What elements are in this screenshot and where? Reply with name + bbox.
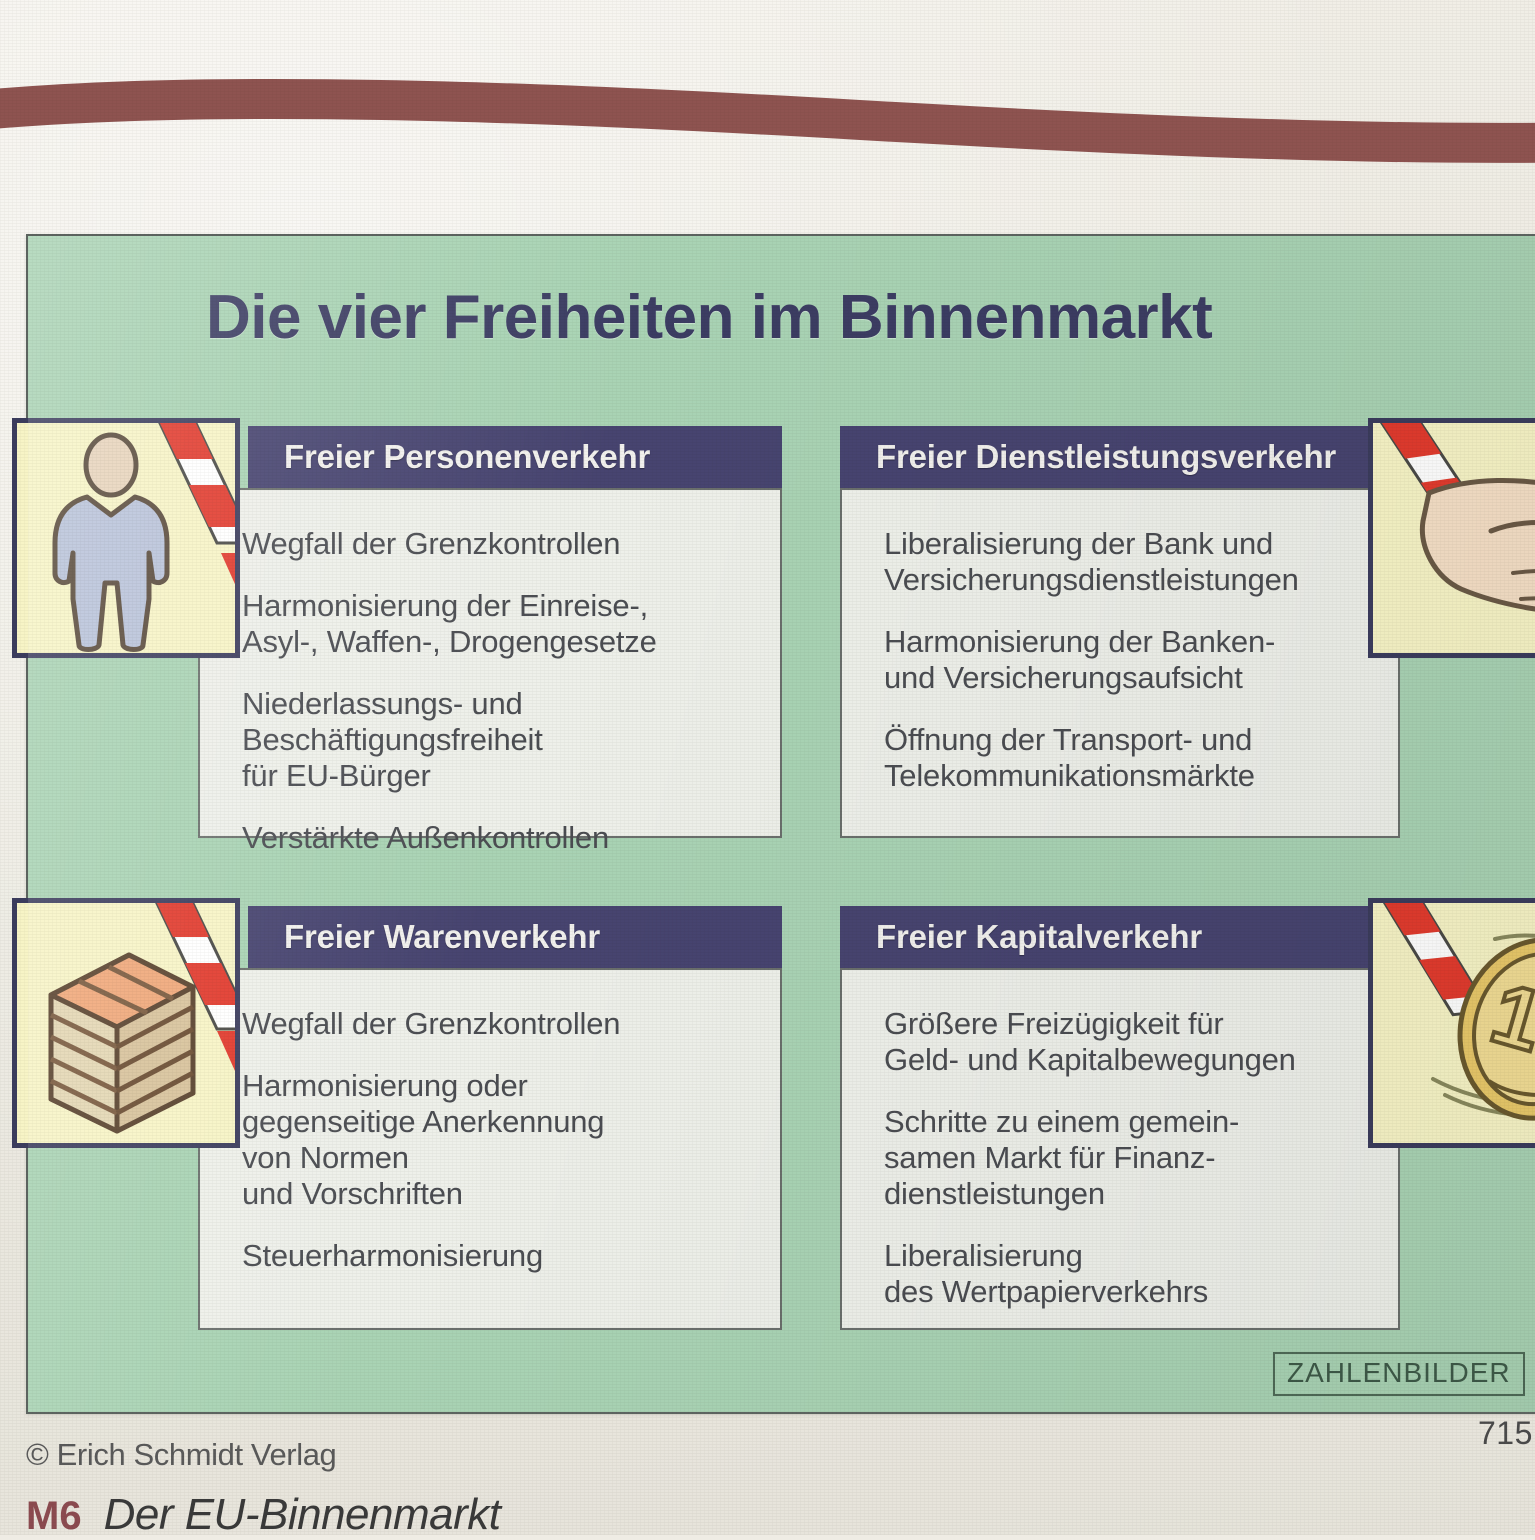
zahlenbilder-number: 715 bbox=[1478, 1415, 1533, 1452]
list-item: Verstärkte Außenkontrollen bbox=[242, 820, 750, 856]
card-body-warenverkehr: Wegfall der Grenzkontrollen Harmonisieru… bbox=[198, 968, 782, 1330]
card-title-kapitalverkehr: Freier Kapitalverkehr bbox=[840, 906, 1374, 968]
material-code: M6 bbox=[26, 1494, 82, 1539]
list-item: Wegfall der Grenzkontrollen bbox=[242, 1006, 750, 1042]
card-body-personenverkehr: Wegfall der Grenzkontrollen Harmonisieru… bbox=[198, 488, 782, 838]
list-item: Schritte zu einem gemein- samen Markt fü… bbox=[884, 1104, 1368, 1212]
card-title-personenverkehr: Freier Personenverkehr bbox=[248, 426, 782, 488]
page-title: Die vier Freiheiten im Binnenmarkt bbox=[206, 282, 1476, 353]
card-body-dienstleistungsverkehr: Liberalisierung der Bank und Versicherun… bbox=[840, 488, 1400, 838]
card-title-warenverkehr: Freier Warenverkehr bbox=[248, 906, 782, 968]
coin-at-barrier-icon: 10 bbox=[1368, 898, 1535, 1148]
handshake-at-barrier-icon bbox=[1368, 418, 1535, 658]
top-maroon-band bbox=[0, 40, 1535, 170]
list-item: Harmonisierung der Einreise-, Asyl-, Waf… bbox=[242, 588, 750, 660]
card-title-dienstleistungsverkehr: Freier Dienstleistungsverkehr bbox=[840, 426, 1374, 488]
list-item: Liberalisierung des Wertpapierverkehrs bbox=[884, 1238, 1368, 1310]
list-item: Niederlassungs- und Beschäftigungsfreihe… bbox=[242, 686, 750, 794]
list-item: Harmonisierung oder gegenseitige Anerken… bbox=[242, 1068, 750, 1212]
list-item: Harmonisierung der Banken- und Versicher… bbox=[884, 624, 1368, 696]
chart-panel: Die vier Freiheiten im Binnenmarkt Freie… bbox=[26, 234, 1535, 1414]
list-item: Steuerharmonisierung bbox=[242, 1238, 750, 1274]
copyright-line: © Erich Schmidt Verlag bbox=[26, 1437, 336, 1473]
material-title: Der EU-Binnenmarkt bbox=[104, 1490, 501, 1540]
goods-crate-at-barrier-icon bbox=[12, 898, 240, 1148]
list-item: Öffnung der Transport- und Telekommunika… bbox=[884, 722, 1368, 794]
list-item: Größere Freizügigkeit für Geld- und Kapi… bbox=[884, 1006, 1368, 1078]
card-body-kapitalverkehr: Größere Freizügigkeit für Geld- und Kapi… bbox=[840, 968, 1400, 1330]
material-caption: M6 Der EU-Binnenmarkt bbox=[26, 1490, 500, 1540]
person-at-barrier-icon bbox=[12, 418, 240, 658]
zahlenbilder-badge: ZAHLENBILDER bbox=[1273, 1347, 1535, 1401]
list-item: Wegfall der Grenzkontrollen bbox=[242, 526, 750, 562]
list-item: Liberalisierung der Bank und Versicherun… bbox=[884, 526, 1368, 598]
zahlenbilder-label: ZAHLENBILDER bbox=[1273, 1352, 1525, 1396]
